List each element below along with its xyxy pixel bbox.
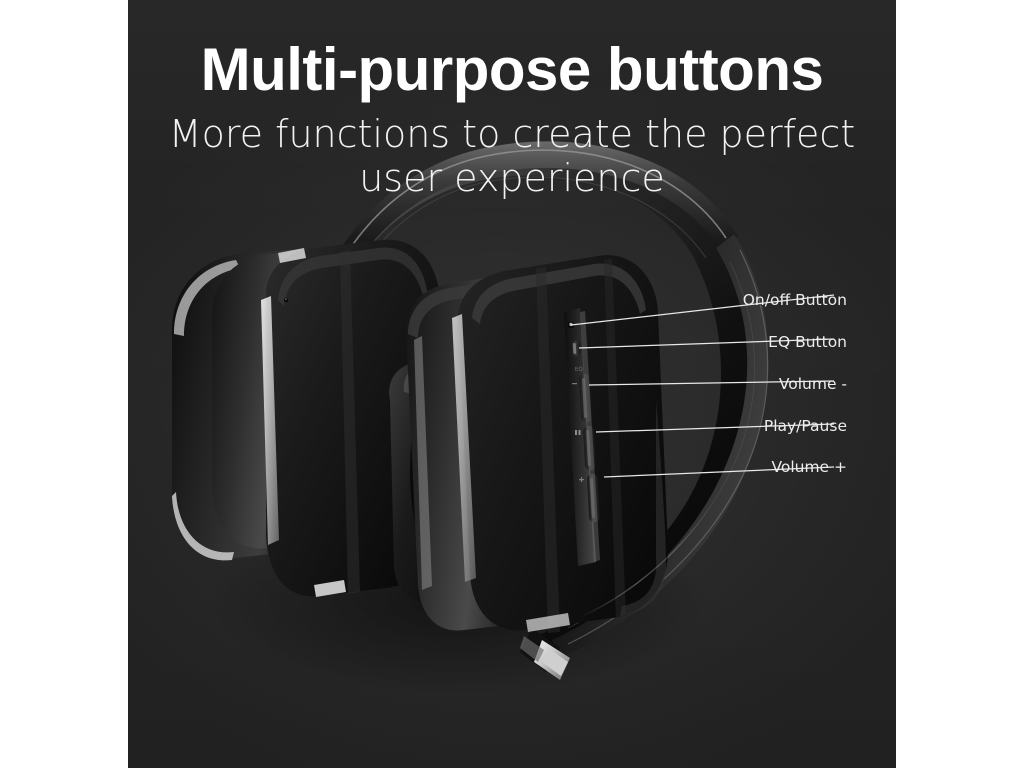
dark-product-panel: EQ bbox=[128, 0, 896, 768]
callout-label-4: Volume + bbox=[587, 458, 847, 476]
eq-button[interactable] bbox=[571, 341, 581, 356]
callout-label-3: Play/Pause bbox=[587, 417, 847, 435]
page-subtitle: More functions to create the perfect use… bbox=[128, 102, 896, 200]
subtitle-line-1: More functions to create the perfect bbox=[128, 112, 896, 156]
callout-label-1: EQ Button bbox=[587, 333, 847, 351]
led-indicator bbox=[568, 322, 575, 329]
callout-label-2: Volume - bbox=[587, 375, 847, 393]
letterbox-bar-left bbox=[0, 0, 128, 768]
svg-text:EQ: EQ bbox=[575, 367, 584, 373]
callout-label-0: On/off Button bbox=[587, 291, 847, 309]
page-title: Multi-purpose buttons bbox=[128, 0, 896, 102]
product-marketing-image: EQ bbox=[0, 0, 1024, 768]
earcup-right: EQ bbox=[389, 255, 668, 633]
header-block: Multi-purpose buttons More functions to … bbox=[128, 0, 896, 200]
letterbox-bar-right bbox=[896, 0, 1024, 768]
subtitle-line-2: user experience bbox=[128, 156, 896, 200]
